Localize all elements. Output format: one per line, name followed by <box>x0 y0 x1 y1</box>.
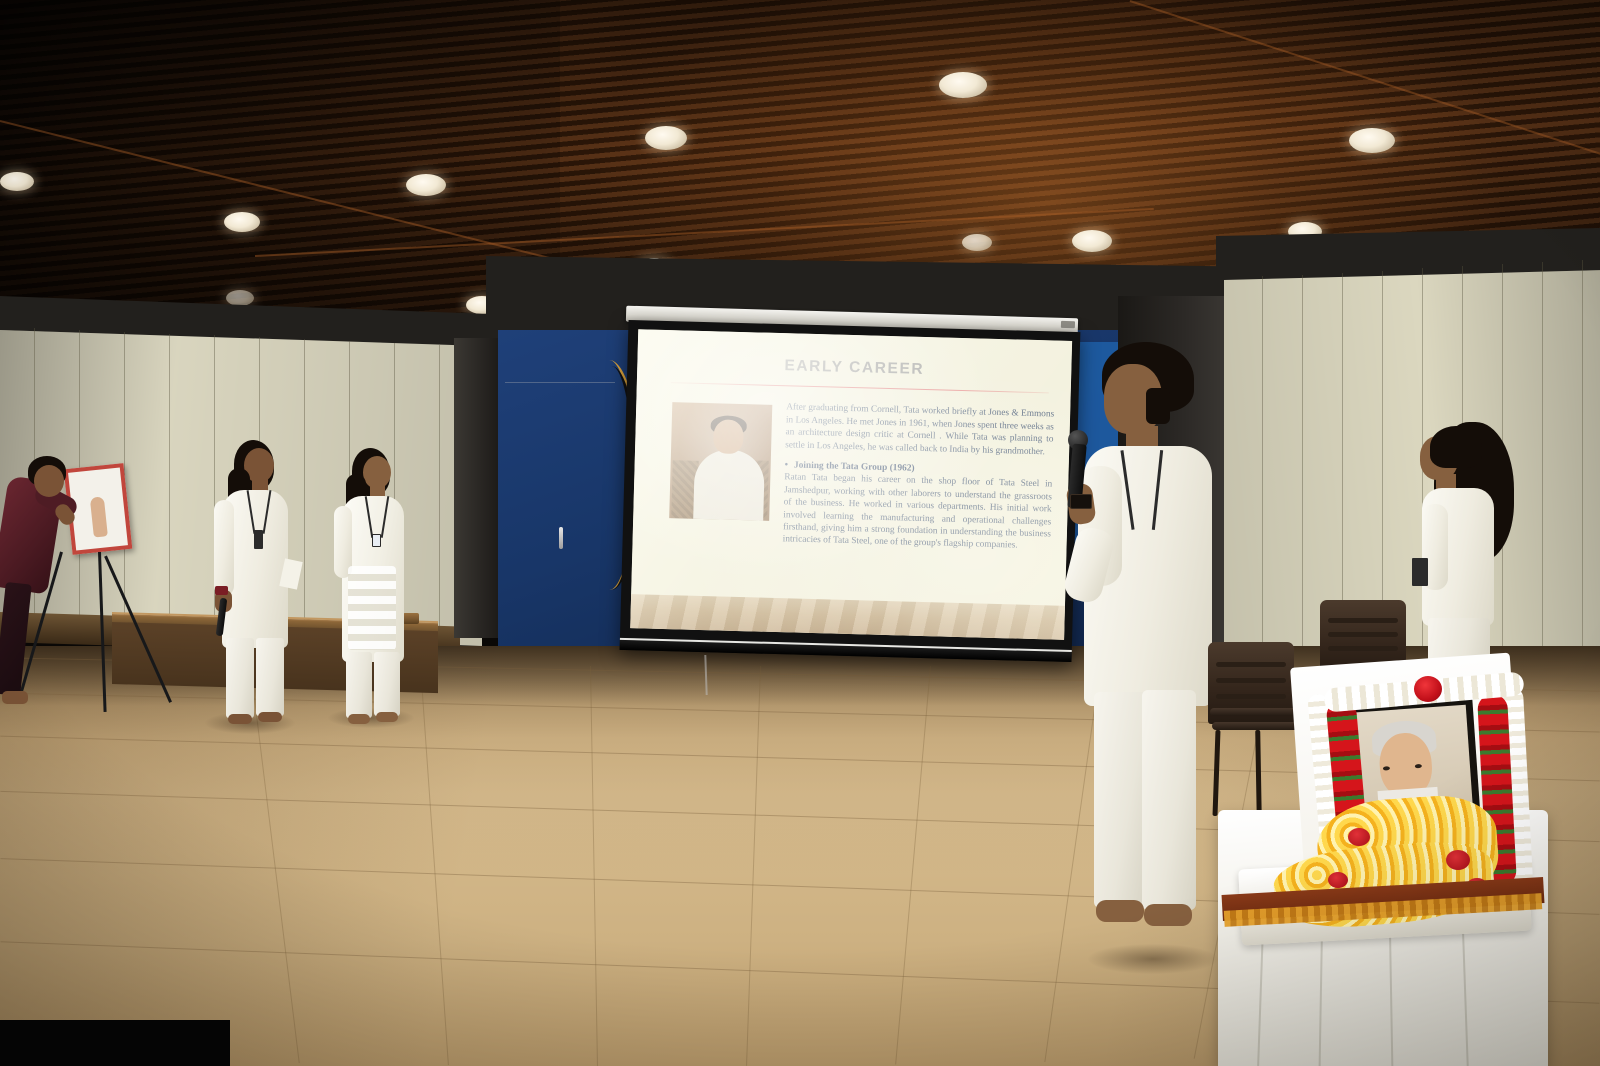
wall-panel-seam <box>439 345 440 635</box>
ceiling-downlight <box>0 172 34 191</box>
slide-title: EARLY CAREER <box>637 353 1071 383</box>
wall-wire <box>505 382 615 383</box>
screen-border: EARLY CAREER After graduating from Corne… <box>620 320 1081 662</box>
slide-photo-ratan-tata <box>669 402 772 521</box>
student1-arm <box>214 500 234 596</box>
ceiling-downlight <box>406 174 446 196</box>
tile-grout-line <box>746 666 761 1066</box>
presentation-slide: EARLY CAREER After graduating from Corne… <box>630 329 1072 640</box>
photo-face <box>713 419 744 454</box>
student2-foot-left <box>348 714 370 724</box>
tile-grout-line <box>895 666 931 1065</box>
auditorium-photograph: EARLY CAREER After graduating from Corne… <box>0 0 1600 1066</box>
tile-grout-line <box>420 666 449 1065</box>
photo-black-corner <box>0 1020 230 1066</box>
speaker-foot-left <box>1096 900 1144 922</box>
student2-leg-left <box>346 652 372 718</box>
student2-leg-right <box>374 652 400 716</box>
screen-roller-cap <box>1061 321 1075 328</box>
wall-panel-seam <box>169 334 170 634</box>
rose-petal <box>1328 872 1348 888</box>
slide-title-rule <box>671 382 1049 394</box>
slide-footer-wood-strip <box>630 594 1065 640</box>
door-handle[interactable] <box>559 527 563 549</box>
artist-foot <box>2 691 28 704</box>
student3-id-card <box>1412 558 1428 586</box>
person-student-3 <box>1406 418 1516 678</box>
ceiling-downlight <box>1072 230 1112 252</box>
ceiling-downlight <box>939 72 987 98</box>
projection-screen: EARLY CAREER After graduating from Corne… <box>620 312 1082 670</box>
photo-shirt <box>693 449 765 521</box>
chair-slat <box>1328 618 1398 623</box>
person-artist <box>0 455 90 720</box>
ceiling-downlight <box>224 212 260 232</box>
person-student-1 <box>214 440 306 732</box>
student3-hair-front <box>1430 426 1482 468</box>
slide-body: After graduating from Cornell, Tata work… <box>782 401 1054 553</box>
rose-top-center <box>1414 676 1442 702</box>
artist-leg <box>0 582 32 696</box>
speaker-leg-left <box>1094 692 1148 908</box>
student2-id-card <box>372 534 381 547</box>
person-student-2 <box>334 448 420 728</box>
student1-id-card <box>254 530 263 549</box>
slide-paragraph-1: After graduating from Cornell, Tata work… <box>785 401 1054 459</box>
stage-left-pillar <box>454 338 500 638</box>
chair-slat <box>1328 632 1398 637</box>
speaker-wristwatch <box>1070 494 1092 509</box>
student1-foot-right <box>258 712 282 722</box>
artist-head <box>34 465 64 497</box>
tile-grout-line <box>590 666 598 1066</box>
ceiling-downlight <box>962 234 992 251</box>
screen-weight-bar <box>620 638 1072 662</box>
student1-leg-right <box>256 638 284 716</box>
screen-surface: EARLY CAREER After graduating from Corne… <box>630 329 1072 640</box>
student1-wrist-band <box>215 586 228 595</box>
ceiling-downlight <box>645 126 687 150</box>
student2-foot-right <box>376 712 398 722</box>
rose-petal <box>1446 850 1470 870</box>
student1-foot-left <box>228 714 252 724</box>
student2-dupatta <box>348 566 396 650</box>
memorial-display <box>1178 650 1578 1066</box>
canvas-sketch <box>90 496 108 537</box>
student1-leg-left <box>226 638 254 718</box>
wall-panel-seam <box>1542 262 1543 662</box>
slide-paragraph-2: Ratan Tata began his career on the shop … <box>782 472 1052 554</box>
ceiling-shadow-left <box>0 0 560 330</box>
wall-panel-seam <box>1582 260 1583 660</box>
speaker-sideburn <box>1146 388 1170 424</box>
rose-petal <box>1348 828 1370 846</box>
